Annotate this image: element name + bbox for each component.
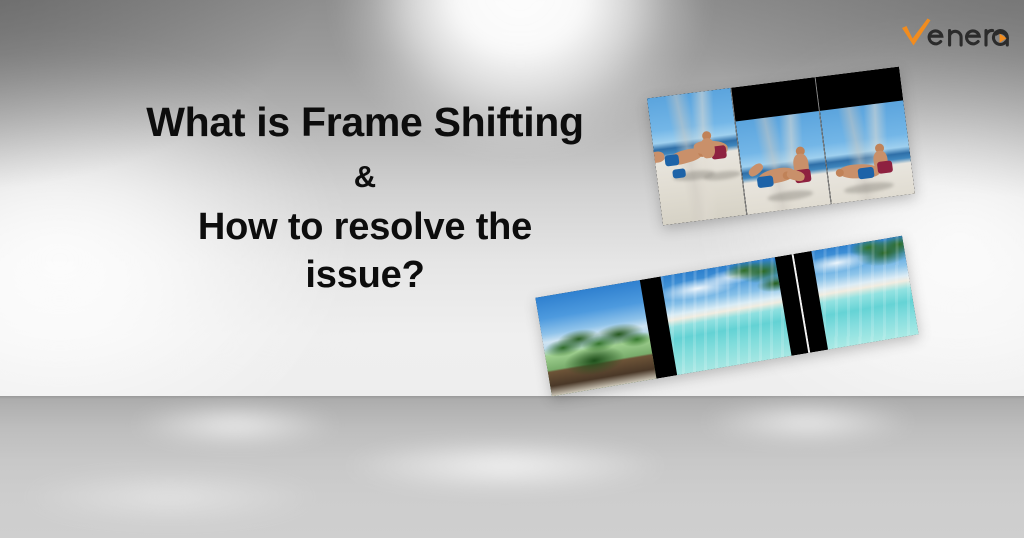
strip2-frame-1 <box>535 280 656 396</box>
strip1-frame-3 <box>816 67 915 205</box>
floor-light-pool-center <box>340 440 670 492</box>
venera-logo[interactable] <box>897 14 1009 54</box>
strip1-frame-1-art <box>647 88 746 226</box>
title-line-1: What is Frame Shifting <box>60 102 670 143</box>
wordmark <box>929 30 1007 45</box>
strip2-frame-2 <box>660 257 791 375</box>
strip1-frame-2 <box>731 77 831 215</box>
strip1-frame-2-art <box>736 111 832 215</box>
floor-light-pool-right <box>700 402 915 442</box>
title-line-3: How to resolve the <box>60 208 670 246</box>
strip1-frame-1 <box>647 88 747 226</box>
floor-light-pool-left <box>130 405 340 445</box>
floor-light-pool-far-left <box>20 470 320 524</box>
check-icon <box>902 19 931 46</box>
title-line-4: issue? <box>60 256 670 294</box>
page-title: What is Frame Shifting & How to resolve … <box>60 102 670 294</box>
slide-canvas: What is Frame Shifting & How to resolve … <box>0 0 1024 538</box>
title-line-2: & <box>60 161 670 192</box>
strip1-frame-3-art <box>820 100 915 204</box>
strip2-frame-3 <box>811 236 918 350</box>
floor-horizon-line <box>0 396 1024 399</box>
